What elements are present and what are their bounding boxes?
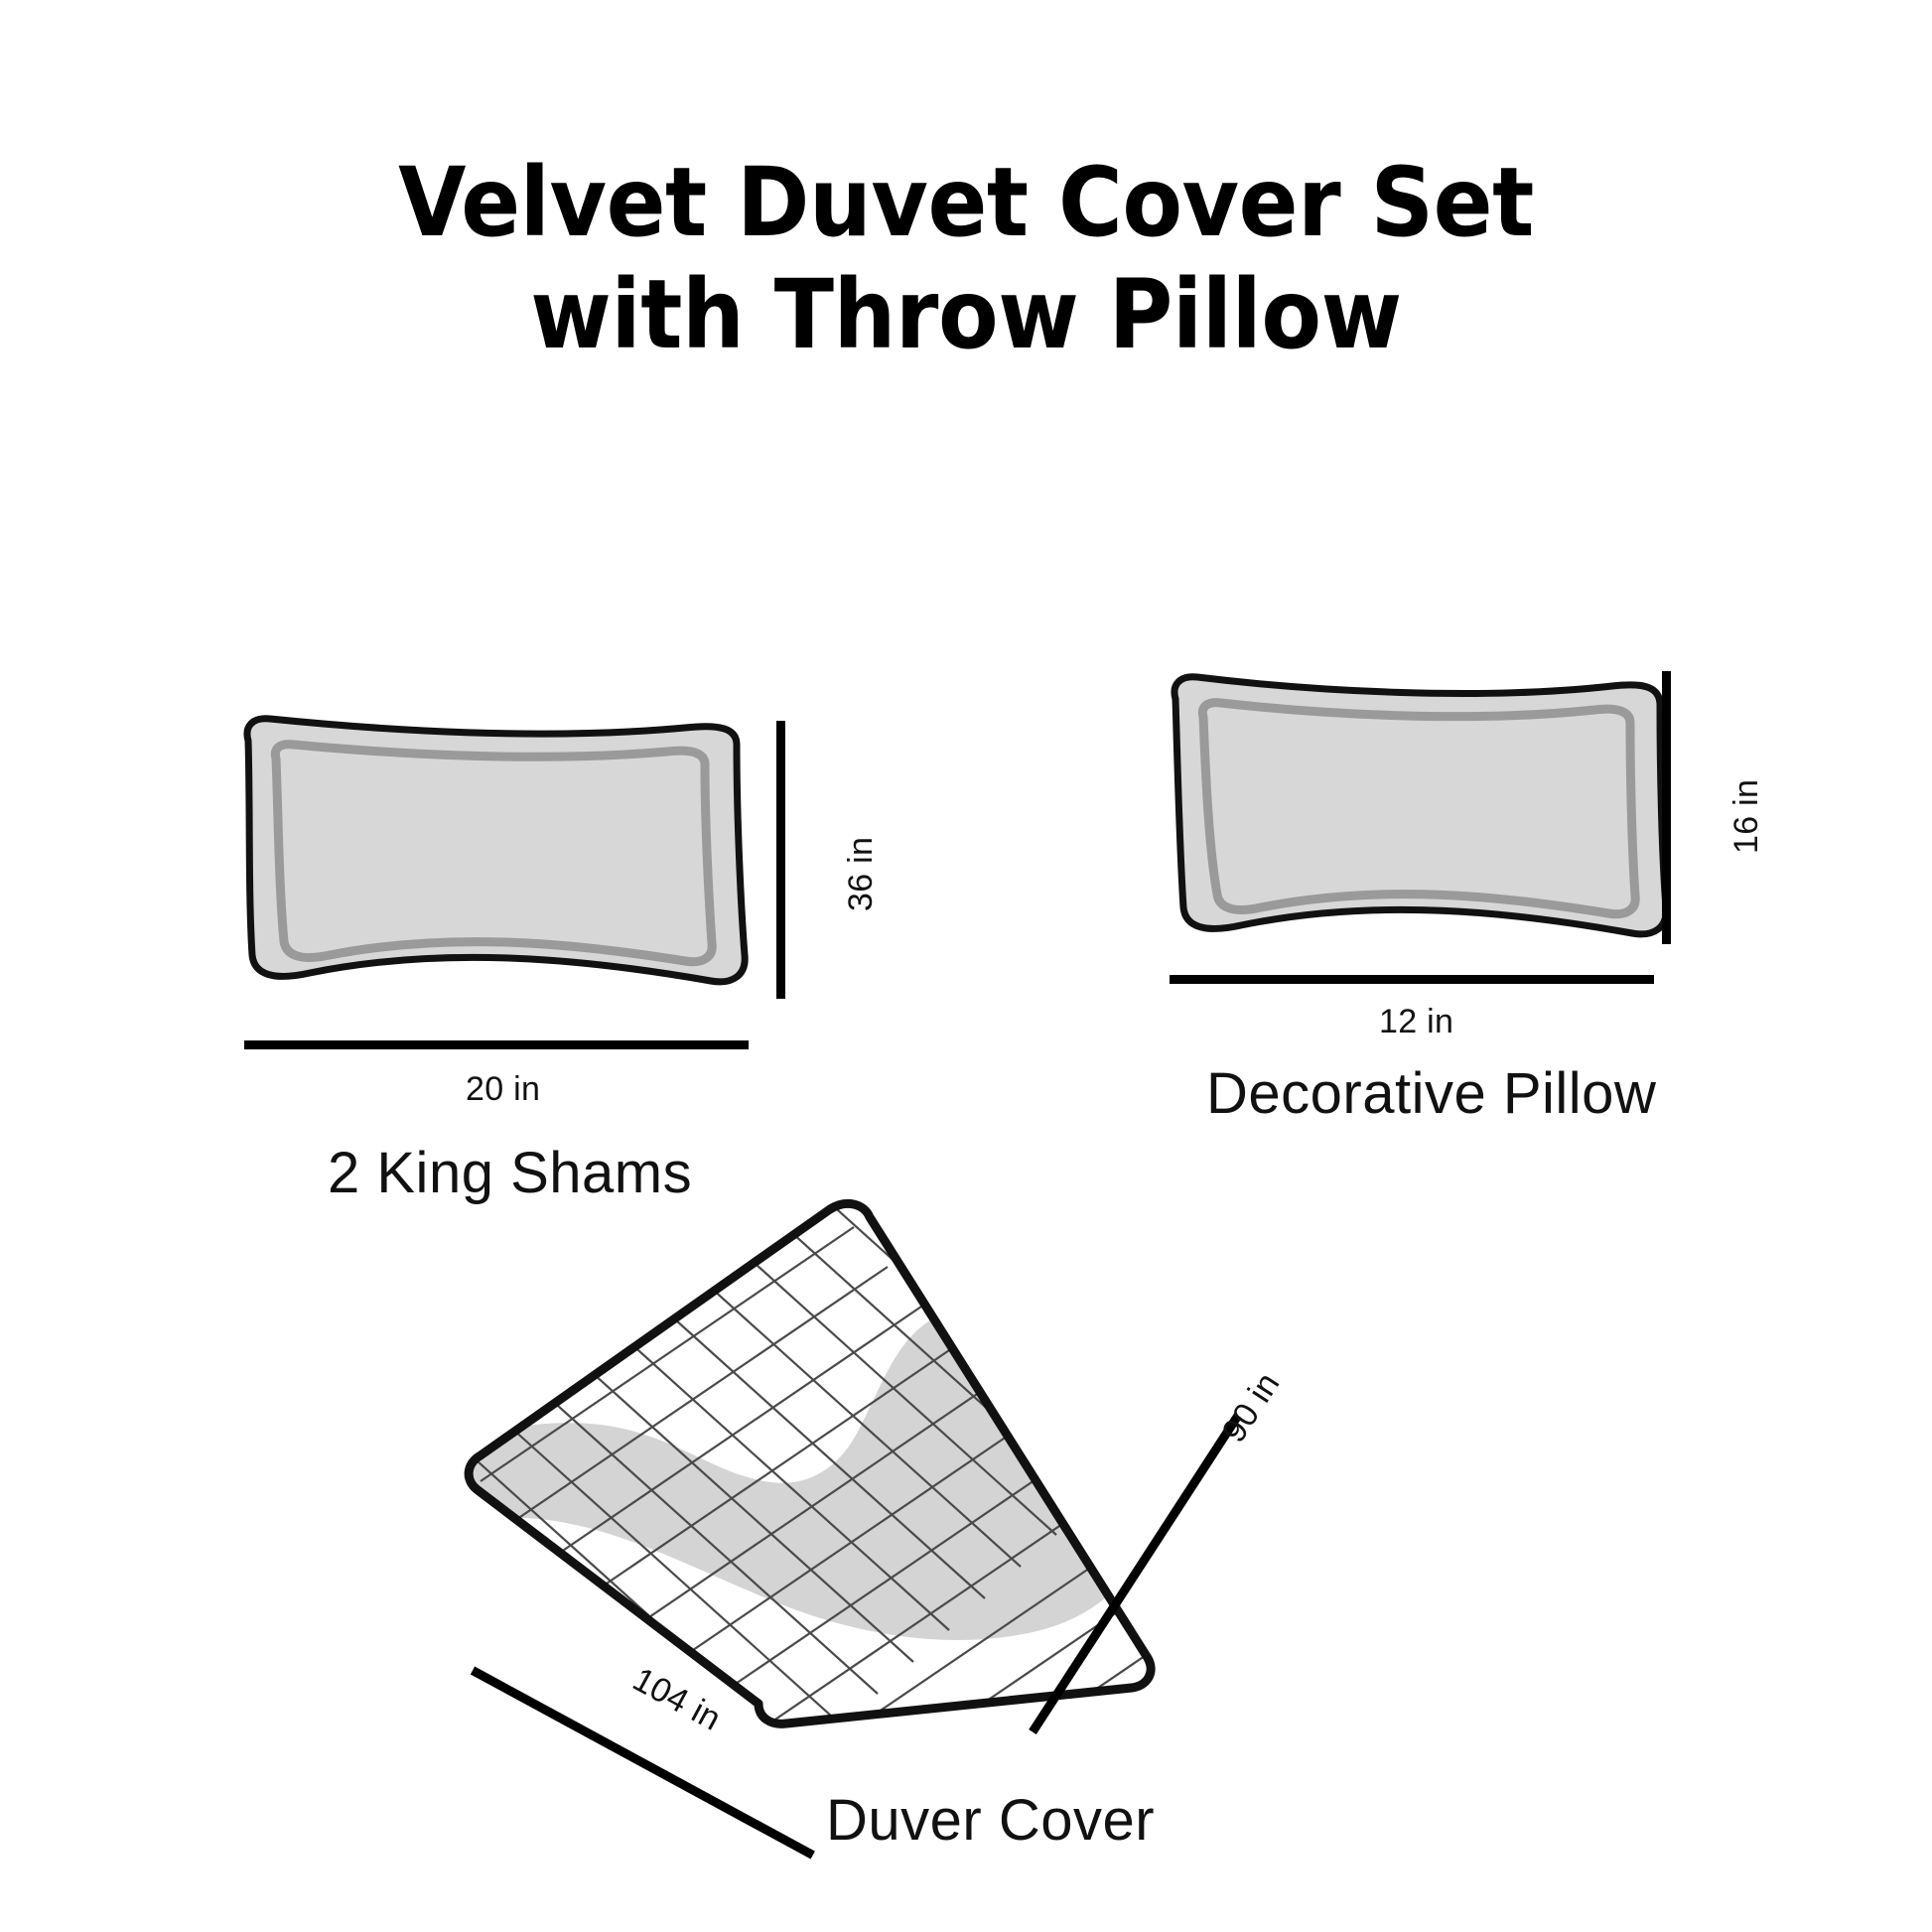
decorative-pillow-height-rule	[1662, 671, 1671, 944]
king-sham-width-label: 20 in	[466, 1070, 540, 1109]
king-sham-width-rule	[244, 1040, 749, 1049]
king-sham-illustration	[218, 695, 774, 1023]
king-sham-height-label: 36 in	[842, 837, 881, 911]
product-dimension-diagram: Velvet Duvet Cover Set with Throw Pillow…	[0, 0, 1932, 1932]
page-title-line-1: Velvet Duvet Cover Set	[77, 147, 1855, 259]
decorative-pillow-width-rule	[1170, 975, 1654, 984]
duvet-cover-caption: Duver Cover	[826, 1787, 1155, 1854]
duvet-cover-illustration	[437, 1191, 1430, 1866]
page-title-line-2: with Throw Pillow	[77, 259, 1855, 371]
decorative-pillow-illustration	[1152, 655, 1668, 983]
king-sham-height-rule	[776, 721, 785, 999]
decorative-pillow-height-label: 16 in	[1727, 779, 1766, 854]
decorative-pillow-caption: Decorative Pillow	[1206, 1060, 1656, 1127]
decorative-pillow-width-label: 12 in	[1379, 1003, 1453, 1041]
page-title: Velvet Duvet Cover Set with Throw Pillow	[0, 147, 1932, 372]
